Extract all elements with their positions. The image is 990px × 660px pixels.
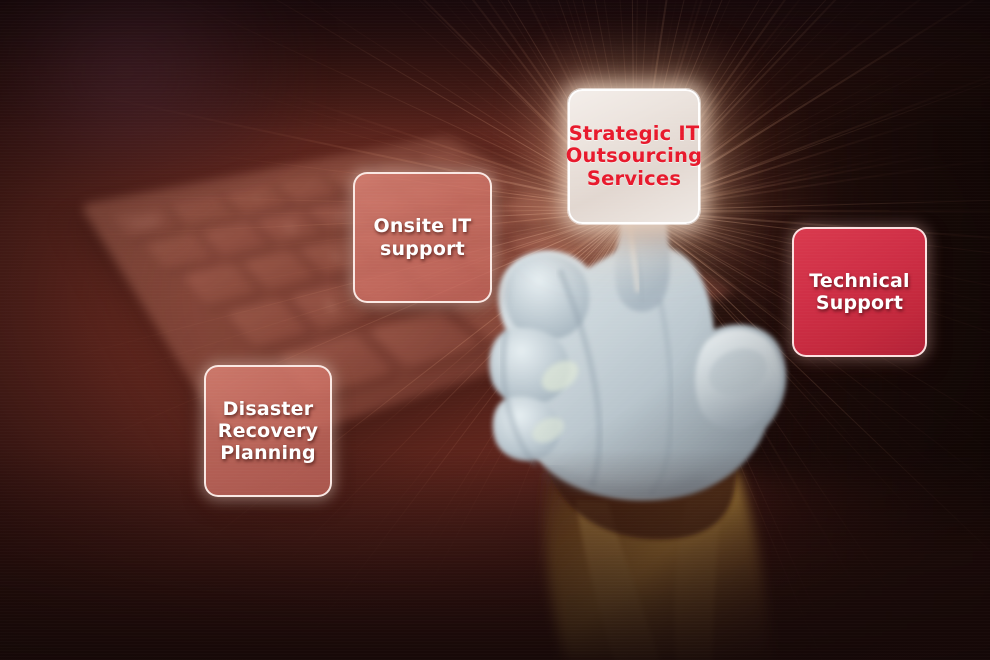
tile-disaster-text: Disaster Recovery Planning	[212, 398, 324, 464]
graphic-canvas: Tab|QWASZ	[0, 0, 990, 660]
tile-strategic-it-outsourcing-services[interactable]: Strategic IT Outsourcing Services	[568, 89, 700, 224]
tile-onsite-it-support[interactable]: Onsite IT support	[353, 172, 492, 303]
tile-disaster-recovery-planning[interactable]: Disaster Recovery Planning	[204, 365, 332, 497]
tile-strategic-text: Strategic IT Outsourcing Services	[560, 123, 709, 191]
tile-technical-support[interactable]: Technical Support	[792, 227, 927, 357]
tile-onsite-text: Onsite IT support	[368, 215, 478, 259]
bottom-shadow-overlay	[0, 450, 990, 660]
tile-technical-text: Technical Support	[803, 270, 916, 314]
